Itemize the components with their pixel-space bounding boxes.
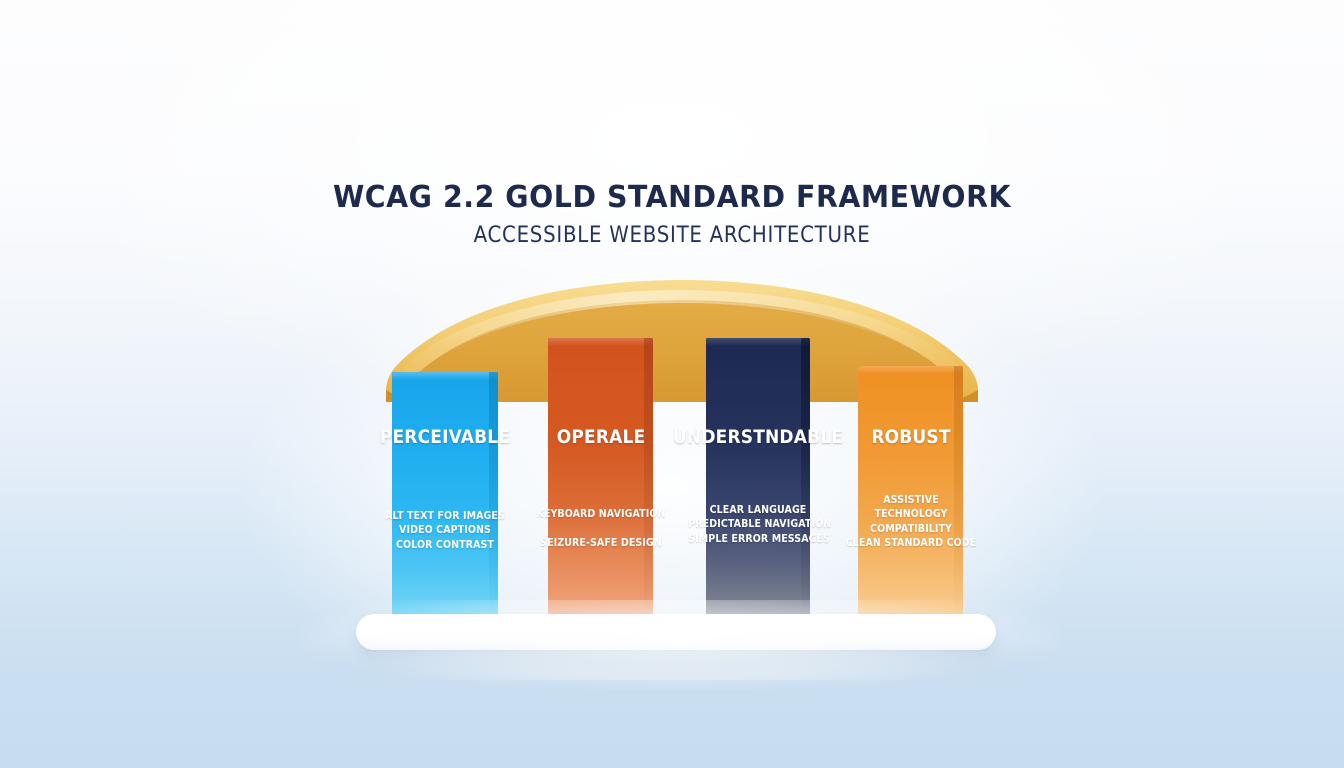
pillar-top-cap [858,366,963,374]
pillar-body [392,372,498,620]
pillar-side-face [801,338,810,620]
pillar-item: TECHNOLOGY [841,508,981,522]
pillar-items: ASSISTIVE TECHNOLOGY COMPATIBILITY CLEAN… [841,494,981,552]
pillar-label: PERCEIVABLE [380,427,510,448]
pillar-operale[interactable]: OPERALE KEYBOARD NAVIGATION SEIZURE-SAFE… [548,338,653,620]
pillar-body [858,366,963,620]
pillar-side-face [489,372,498,620]
pillar-item: CLEAR LANGUAGE [688,504,828,518]
pillar-item: SEIZURE-SAFE DESIGN [531,537,671,551]
pillar-item: VIDEO CAPTIONS [375,524,515,538]
pillar-item: ALT TEXT FOR IMAGES [375,510,515,524]
pillar-label: ROBUST [871,427,950,448]
pillar-body [548,338,653,620]
pillar-items: KEYBOARD NAVIGATION SEIZURE-SAFE DESIGN [531,508,671,551]
pillar-items: ALT TEXT FOR IMAGES VIDEO CAPTIONS COLOR… [375,510,515,553]
pillar-item: PREDICTABLE NAVIGATION [688,518,828,532]
infographic-canvas: WCAG 2.2 GOLD STANDARD FRAMEWORK ACCESSI… [0,0,1344,768]
pillar-item: COMPATIBILITY [841,523,981,537]
pillar-item: COLOR CONTRAST [375,539,515,553]
pillar-item [531,522,671,536]
pillar-side-face [644,338,653,620]
platform-base [356,614,996,650]
pillar-robust[interactable]: ROBUST ASSISTIVE TECHNOLOGY COMPATIBILIT… [858,366,963,620]
pillar-top-cap [706,338,810,346]
title-block: WCAG 2.2 GOLD STANDARD FRAMEWORK ACCESSI… [0,182,1344,248]
pillar-top-cap [548,338,653,346]
page-title: WCAG 2.2 GOLD STANDARD FRAMEWORK [47,182,1297,214]
pillar-label: UNDERSTNDABLE [673,427,843,448]
pillar-label: OPERALE [556,427,645,448]
pillar-item: CLEAN STANDARD CODE [841,537,981,551]
pillar-top-cap [392,372,498,380]
pillar-perceivable[interactable]: PERCEIVABLE ALT TEXT FOR IMAGES VIDEO CA… [392,372,498,620]
pillar-item: SIMPLE ERROR MESSAGES [688,533,828,547]
pillar-body [706,338,810,620]
pillar-item: KEYBOARD NAVIGATION [531,508,671,522]
pillar-item: ASSISTIVE [841,494,981,508]
pillar-items: CLEAR LANGUAGE PREDICTABLE NAVIGATION SI… [688,504,828,547]
page-subtitle: ACCESSIBLE WEBSITE ARCHITECTURE [67,223,1277,248]
pillar-understndable[interactable]: UNDERSTNDABLE CLEAR LANGUAGE PREDICTABLE… [706,338,810,620]
pillar-side-face [954,366,963,620]
